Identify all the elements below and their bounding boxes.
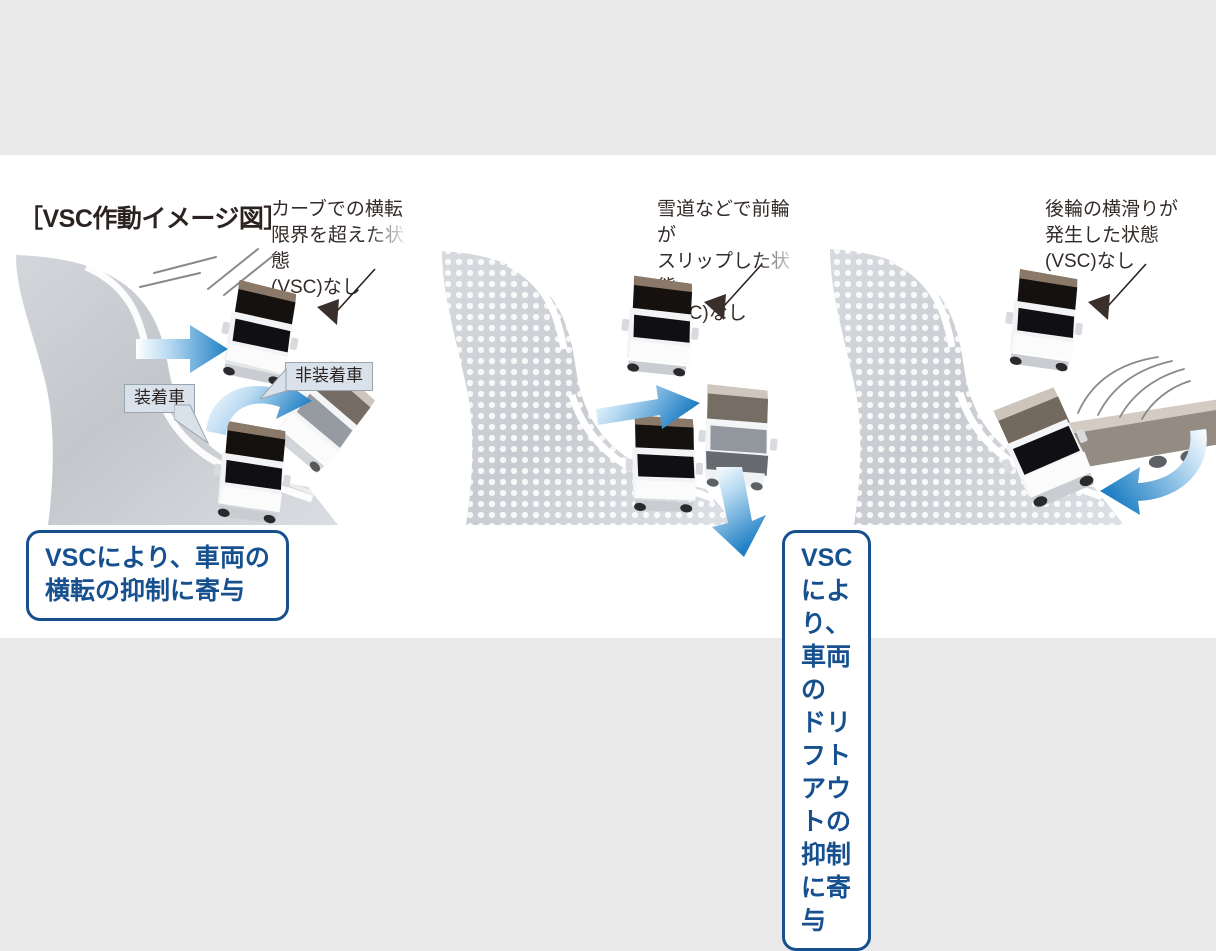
condition-leader-arrow-icon xyxy=(303,263,383,343)
spin-motion-lines-icon xyxy=(1072,351,1192,421)
letterbox-top xyxy=(0,0,1216,155)
panel-spin: 後輪の横滑りが 発生した状態 (VSC)なし xyxy=(800,155,1216,638)
callout-not-equipped-pointer-icon xyxy=(260,367,300,413)
force-arrow-upper-icon xyxy=(136,323,232,381)
truck-upper xyxy=(596,267,712,387)
result-box-rollover: VSCにより、車両の 横転の抑制に寄与 xyxy=(26,530,289,621)
diagram-canvas: ［VSC作動イメージ図］ カーブでの横転 限界を超えた状態 (VSC)なし xyxy=(0,155,1216,638)
callout-equipped-pointer-icon xyxy=(174,403,254,453)
panel-rollover: カーブでの横転 限界を超えた状態 (VSC)なし xyxy=(8,155,408,638)
panel-drift-out: 雪道などで前輪が スリップした状態 (VSC)なし xyxy=(400,155,800,638)
spin-arrow-icon xyxy=(1056,427,1216,517)
force-arrow-drift-icon xyxy=(596,383,706,441)
letterbox-bottom xyxy=(0,638,1216,810)
drift-out-arrow-icon xyxy=(708,467,778,563)
figure-stage: ［VSC作動イメージ図］ カーブでの横転 限界を超えた状態 (VSC)なし xyxy=(0,0,1216,810)
